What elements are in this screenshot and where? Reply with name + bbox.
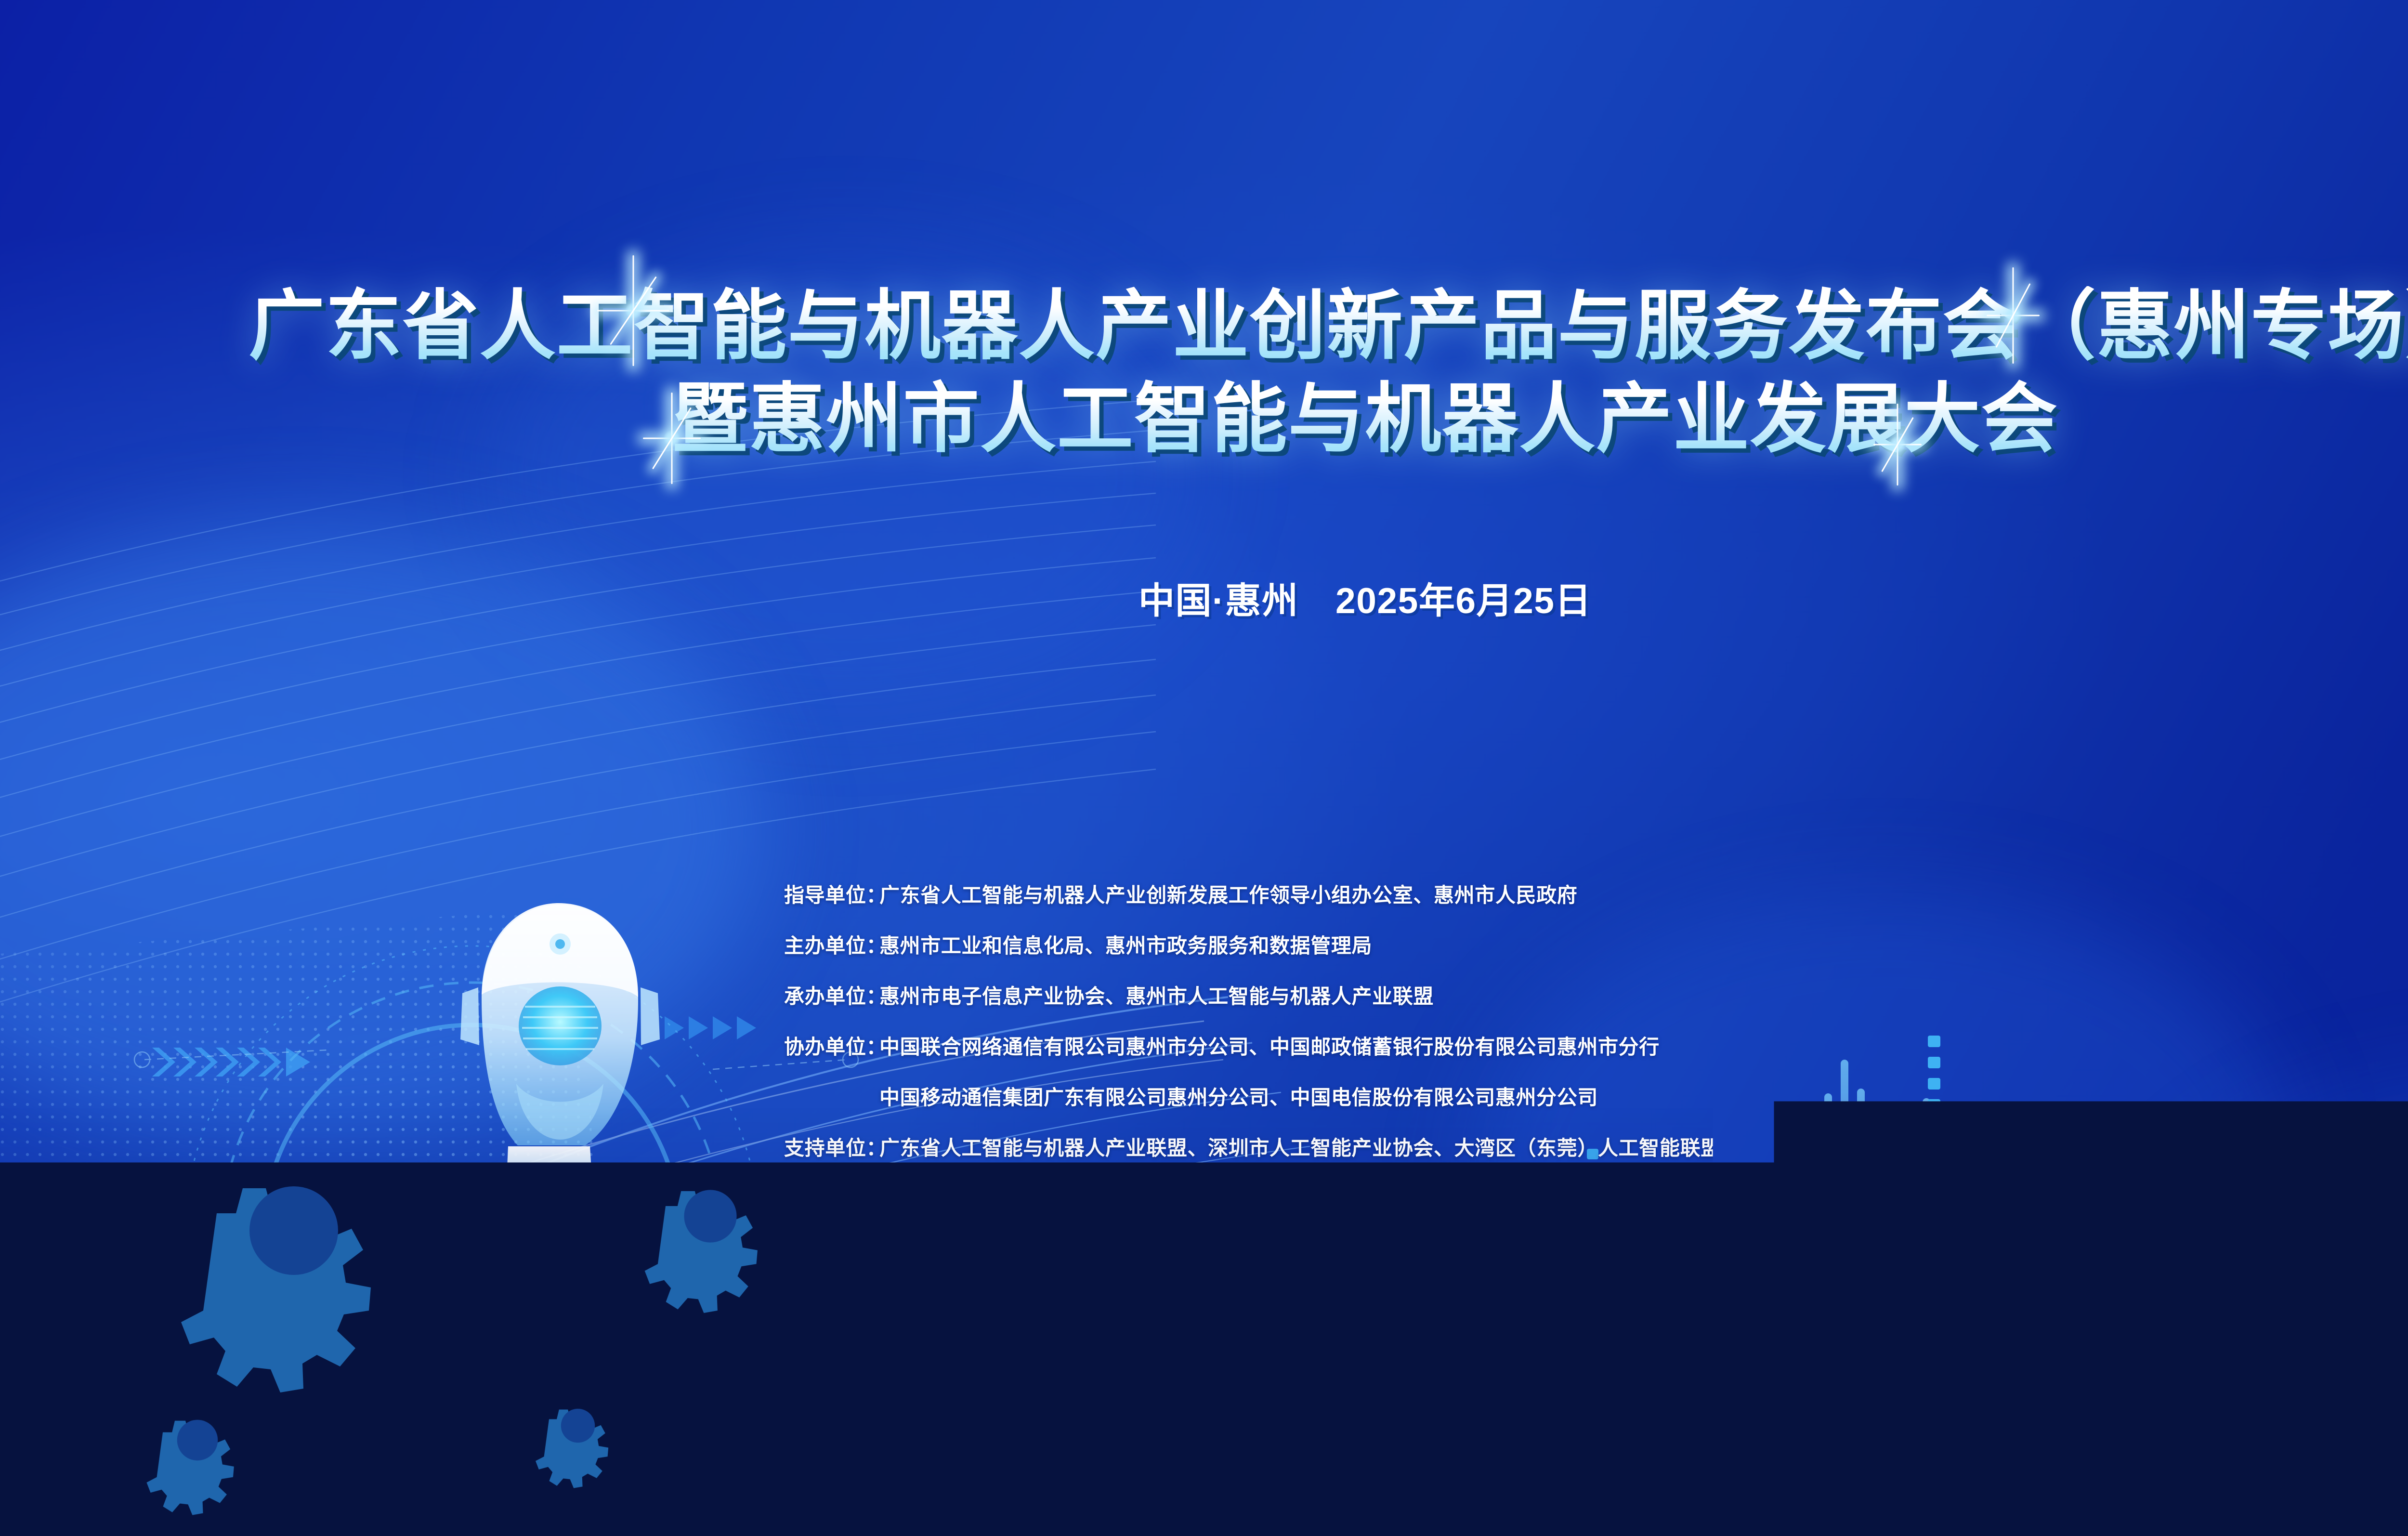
chevron-arrows-decor xyxy=(0,0,2408,1536)
event-subtitle: 中国·惠州 2025年6月25日 xyxy=(0,571,2408,624)
audio-waveform-decor xyxy=(0,0,2408,1536)
credit-value: 广东省人工智能与机器人产业联盟、深圳市人工智能产业协会、大湾区（东莞）人工智能联… xyxy=(879,1132,1721,1161)
credit-label: 支持单位： xyxy=(784,1132,879,1161)
robot-icon xyxy=(0,0,2408,1536)
credit-row: 指导单位： 广东省人工智能与机器人产业创新发展工作领导小组办公室、惠州市人民政府 xyxy=(784,879,1721,930)
ai-wordmark xyxy=(2161,1209,2408,1479)
credit-row: 协办单位： 中国联合网络通信有限公司惠州市分公司、中国邮政储蓄银行股份有限公司惠… xyxy=(784,1031,1721,1081)
credit-label: 主办单位： xyxy=(784,930,879,959)
ai-glow xyxy=(2128,1305,2408,1512)
credit-label: 指导单位： xyxy=(784,879,879,908)
diagonal-hairlines-decor xyxy=(0,0,2408,1536)
title-line-1: 广东省人工智能与机器人产业创新产品与服务发布会（惠州专场） xyxy=(0,286,2408,367)
banner-stage: 广东省人工智能与机器人产业创新产品与服务发布会（惠州专场） 暨惠州市人工智能与机… xyxy=(0,0,2408,1536)
credit-label: 协办单位： xyxy=(784,1031,879,1060)
credit-row: 支持单位： 广东省人工智能与机器人产业联盟、深圳市人工智能产业协会、大湾区（东莞… xyxy=(784,1132,1721,1182)
credit-value: 惠州市电子信息产业协会、惠州市人工智能与机器人产业联盟 xyxy=(879,980,1721,1010)
credit-value: 广东省人工智能与机器人产业创新发展工作领导小组办公室、惠州市人民政府 xyxy=(879,879,1721,908)
banner-title-block: 广东省人工智能与机器人产业创新产品与服务发布会（惠州专场） 暨惠州市人工智能与机… xyxy=(0,286,2408,460)
sweeping-curves-decor xyxy=(0,0,2408,1536)
bottom-vignette xyxy=(0,0,2408,1536)
title-line-2: 暨惠州市人工智能与机器人产业发展大会 xyxy=(0,379,2408,459)
credit-row: 主办单位： 惠州市工业和信息化局、惠州市政务服务和数据管理局 xyxy=(784,930,1721,980)
background-glow-layer xyxy=(0,0,2408,1536)
credit-label: 承办单位： xyxy=(784,980,879,1010)
credits-block: 指导单位： 广东省人工智能与机器人产业创新发展工作领导小组办公室、惠州市人民政府… xyxy=(784,879,1721,1182)
dotted-grid-decor xyxy=(0,0,2408,1536)
credit-value: 中国联合网络通信有限公司惠州市分公司、中国邮政储蓄银行股份有限公司惠州市分行 xyxy=(879,1031,1721,1060)
credit-value: 惠州市工业和信息化局、惠州市政务服务和数据管理局 xyxy=(879,930,1721,959)
credit-value: 中国移动通信集团广东有限公司惠州分公司、中国电信股份有限公司惠州分公司 xyxy=(879,1081,1721,1111)
credit-row: 承办单位： 惠州市电子信息产业协会、惠州市人工智能与机器人产业联盟 xyxy=(784,980,1721,1031)
hud-rings-decor xyxy=(0,0,2408,1536)
credit-row-continuation: 协办单位： 中国移动通信集团广东有限公司惠州分公司、中国电信股份有限公司惠州分公… xyxy=(784,1081,1721,1132)
gear-icon xyxy=(146,1186,758,1515)
